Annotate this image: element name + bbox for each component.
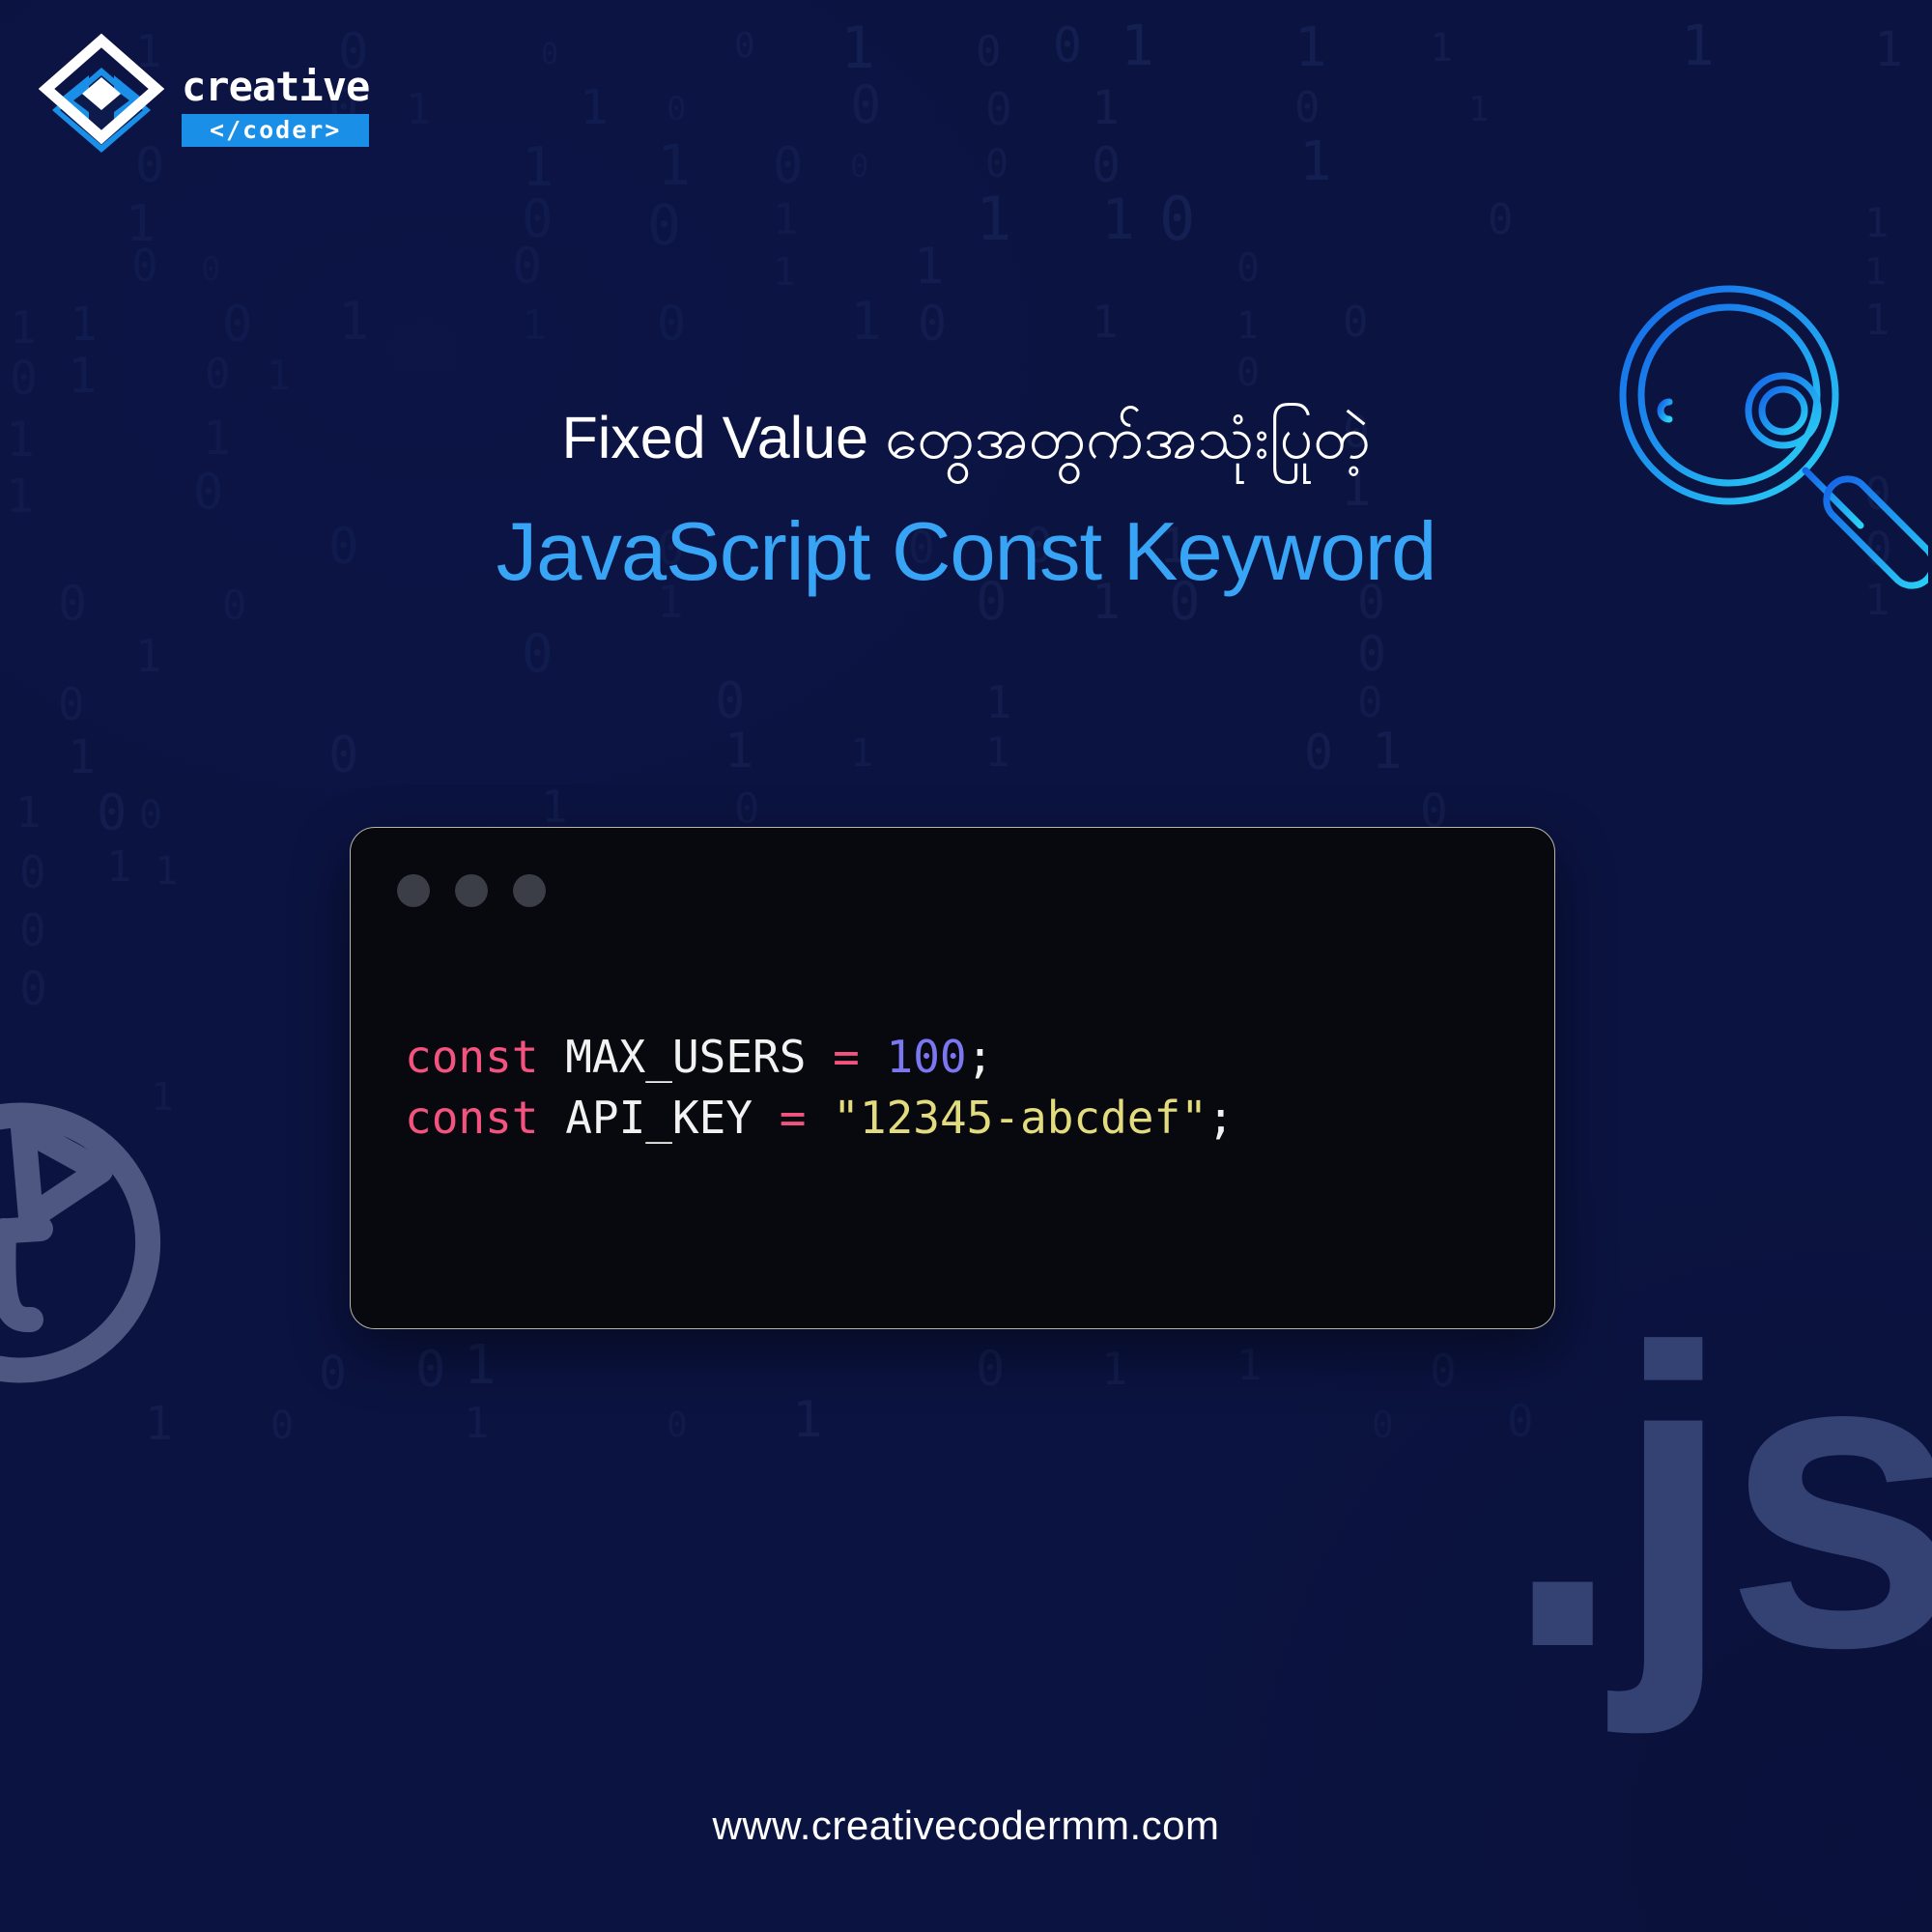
background-digit: 0: [19, 908, 46, 952]
background-digit: 1: [522, 141, 554, 195]
background-digit: 0: [97, 788, 127, 838]
background-digit: 0: [976, 31, 1002, 73]
background-digit: 1: [70, 301, 98, 348]
code-window: const MAX_USERS = 100;const API_KEY = "1…: [350, 827, 1555, 1329]
background-digit: 0: [270, 1406, 294, 1445]
code-token-plain: [860, 1031, 887, 1083]
background-digit: 0: [222, 299, 252, 350]
background-digit: 1: [976, 189, 1011, 249]
background-digit: 1: [1430, 29, 1453, 68]
background-digit: 0: [1053, 21, 1082, 70]
background-digit: 1: [1092, 299, 1119, 344]
background-digit: 0: [205, 354, 231, 396]
background-digit: 1: [106, 846, 132, 889]
code-token-plain: [806, 1092, 833, 1144]
code-token-identifier: MAX_USERS: [565, 1031, 806, 1083]
background-digit: 0: [1092, 141, 1121, 189]
background-digit: 1: [985, 732, 1009, 773]
background-digit: 0: [19, 850, 46, 895]
code-token-plain: [538, 1092, 565, 1144]
background-digit: 1: [338, 296, 370, 348]
background-digit: 1: [126, 199, 156, 249]
background-digit: 0: [415, 1345, 445, 1395]
background-digit: 1: [985, 680, 1012, 724]
background-digit: 0: [19, 966, 47, 1012]
code-token-identifier: API_KEY: [565, 1092, 753, 1144]
js-watermark: .js: [1504, 1287, 1932, 1712]
background-digit: 0: [58, 682, 85, 726]
background-digit: 0: [1357, 682, 1383, 724]
code-token-plain: [538, 1031, 565, 1083]
code-line: const MAX_USERS = 100;: [405, 1027, 1516, 1088]
code-token-punctuation: ;: [1207, 1092, 1235, 1144]
background-digit: 0: [1159, 189, 1195, 249]
background-digit: 0: [715, 676, 745, 726]
background-digit: 0: [647, 197, 681, 253]
background-digit: 0: [985, 87, 1012, 131]
background-digit: 0: [773, 141, 803, 191]
heading-block: Fixed Value တွေအတွက်အသုံးပြုတဲ့ JavaScri…: [0, 401, 1932, 598]
background-digit: 0: [1304, 728, 1333, 777]
background-digit: 0: [139, 796, 162, 835]
code-token-number: 100: [887, 1031, 967, 1083]
background-digit: 0: [918, 299, 947, 348]
background-digit: 1: [1236, 1345, 1263, 1387]
footer-website-url[interactable]: www.creativecodermm.com: [0, 1803, 1932, 1849]
background-digit: 1: [1681, 17, 1715, 73]
background-digit: 0: [1294, 87, 1321, 129]
background-digit: 0: [1236, 354, 1260, 392]
background-digit: 0: [522, 193, 554, 245]
background-digit: 0: [1357, 630, 1386, 678]
background-digit: 1: [522, 305, 546, 346]
background-digit: 1: [1121, 17, 1154, 73]
background-digit: 1: [1468, 93, 1490, 128]
subtitle: Fixed Value တွေအတွက်အသုံးပြုတဲ့: [213, 401, 1719, 474]
background-digit: 0: [734, 29, 755, 64]
code-token-keyword: const: [405, 1092, 538, 1144]
background-digit: 0: [667, 1408, 688, 1443]
background-digit: 1: [773, 253, 796, 292]
background-digit: 1: [406, 89, 432, 131]
window-controls: [397, 874, 546, 907]
background-digit: 0: [1430, 1349, 1457, 1393]
background-digit: 1: [267, 355, 291, 396]
background-digit: 1: [464, 1403, 490, 1445]
background-digit: 1: [135, 634, 162, 678]
background-digit: 1: [68, 734, 96, 781]
background-digit: 0: [131, 243, 158, 288]
background-digit: 1: [10, 305, 37, 350]
code-token-plain: [806, 1031, 833, 1083]
background-digit: 1: [541, 784, 568, 829]
window-dot-close-icon[interactable]: [397, 874, 430, 907]
background-digit: 1: [464, 1339, 497, 1393]
background-digit: 1: [1101, 191, 1135, 247]
background-digit: 0: [667, 93, 686, 126]
background-digit: 1: [773, 199, 799, 241]
background-digit: 1: [724, 726, 753, 775]
background-digit: 1: [1092, 85, 1120, 131]
background-digit: 0: [10, 355, 38, 402]
code-token-punctuation: ;: [967, 1031, 994, 1083]
background-digit: 1: [792, 1395, 822, 1445]
poster-canvas: 1000100111110110001010110000110011100100…: [0, 0, 1932, 1932]
background-digit: 0: [1488, 199, 1514, 241]
background-digit: 0: [512, 241, 542, 292]
background-digit: 0: [319, 1350, 347, 1397]
brand-logo[interactable]: creative </coder>: [39, 33, 369, 158]
background-digit: 1: [580, 83, 609, 131]
background-digit: 1: [1372, 726, 1402, 777]
code-token-operator: =: [833, 1031, 860, 1083]
creative-coder-diamond-logo: [39, 33, 164, 158]
background-digit: 0: [985, 145, 1009, 184]
code-content: const MAX_USERS = 100;const API_KEY = "1…: [405, 1027, 1516, 1148]
background-digit: 1: [840, 19, 875, 77]
background-digit: 1: [155, 852, 178, 891]
background-digit: 1: [914, 241, 944, 292]
logo-title: creative: [182, 67, 369, 107]
background-digit: 1: [850, 296, 882, 348]
pi-refresh-icon: [0, 1094, 214, 1412]
code-token-keyword: const: [405, 1031, 538, 1083]
background-digit: 1: [850, 734, 873, 773]
background-digit: 0: [1343, 301, 1369, 344]
code-token-operator: =: [780, 1092, 807, 1144]
background-digit: 0: [522, 628, 554, 680]
background-digit: 0: [1236, 249, 1260, 288]
background-digit: 0: [734, 788, 760, 831]
background-digit: 0: [328, 730, 358, 781]
background-digit: 0: [541, 41, 558, 70]
background-digit: 1: [1299, 135, 1332, 189]
background-digit: 1: [1874, 25, 1903, 73]
background-digit: 0: [201, 253, 220, 286]
code-line: const API_KEY = "12345-abcdef";: [405, 1088, 1516, 1149]
background-digit: 0: [850, 79, 882, 131]
code-token-plain: [753, 1092, 780, 1144]
background-digit: 0: [976, 1345, 1005, 1393]
background-digit: 1: [68, 352, 97, 400]
background-digit: 1: [1101, 1347, 1128, 1391]
window-dot-maximize-icon[interactable]: [513, 874, 546, 907]
background-digit: 0: [657, 299, 686, 348]
logo-wordmark: creative </coder>: [182, 45, 369, 147]
code-token-string: "12345-abcdef": [833, 1092, 1207, 1144]
background-digit: 0: [850, 151, 868, 182]
logo-coder-tag: </coder>: [182, 114, 369, 147]
background-digit: 1: [657, 137, 691, 193]
page-title: JavaScript Const Keyword: [213, 507, 1719, 598]
background-digit: 1: [1294, 21, 1327, 75]
background-digit: 1: [15, 792, 42, 835]
background-digit: 1: [1864, 203, 1889, 243]
background-digit: 0: [1372, 1406, 1394, 1443]
background-digit: 1: [1236, 307, 1259, 344]
window-dot-minimize-icon[interactable]: [455, 874, 488, 907]
